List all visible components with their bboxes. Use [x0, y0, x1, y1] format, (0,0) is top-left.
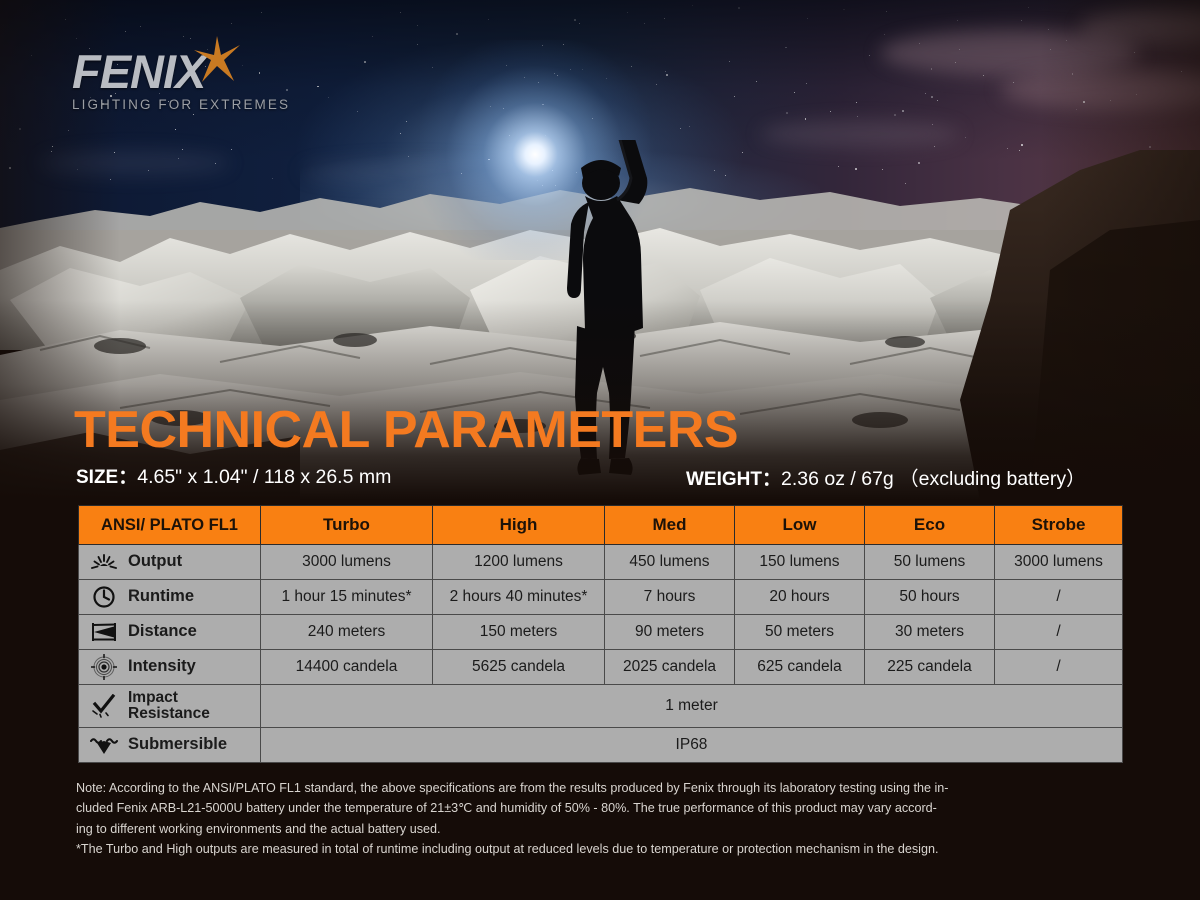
footnote: Note: According to the ANSI/PLATO FL1 st… — [76, 778, 1132, 860]
cell-runtime-eco: 50 hours — [865, 580, 995, 615]
row-label-submersible: Submersible — [79, 728, 261, 763]
header-cell-2: High — [433, 506, 605, 545]
row-label-output: Output — [79, 545, 261, 580]
header-cell-6: Strobe — [995, 506, 1123, 545]
footnote-line-2: cluded Fenix ARB-L21-5000U battery under… — [76, 798, 1132, 818]
cell-output-eco: 50 lumens — [865, 545, 995, 580]
footnote-line-4: *The Turbo and High outputs are measured… — [76, 839, 1132, 859]
cell-runtime-turbo: 1 hour 15 minutes* — [261, 580, 433, 615]
header-cell-4: Low — [735, 506, 865, 545]
cell-intensity-turbo: 14400 candela — [261, 650, 433, 685]
cell-runtime-strobe: / — [995, 580, 1123, 615]
cell-intensity-high: 5625 candela — [433, 650, 605, 685]
cell-runtime-low: 20 hours — [735, 580, 865, 615]
intensity-target-icon — [89, 654, 119, 680]
header-cell-5: Eco — [865, 506, 995, 545]
header-cell-3: Med — [605, 506, 735, 545]
header-cell-1: Turbo — [261, 506, 433, 545]
cell-intensity-med: 2025 candela — [605, 650, 735, 685]
spec-summary: SIZE：4.65" x 1.04" / 118 x 26.5 mm WEIGH… — [76, 462, 1136, 494]
size-spec: SIZE：4.65" x 1.04" / 118 x 26.5 mm — [76, 462, 391, 489]
cell-distance-med: 90 meters — [605, 615, 735, 650]
table-row: Intensity 14400 candela 5625 candela 202… — [79, 650, 1123, 685]
cell-output-low: 150 lumens — [735, 545, 865, 580]
table-row: Runtime 1 hour 15 minutes* 2 hours 40 mi… — [79, 580, 1123, 615]
specs-table: ANSI/ PLATO FL1 Turbo High Med Low Eco S… — [78, 505, 1123, 763]
page-title: TECHNICAL PARAMETERS — [74, 404, 738, 456]
header-cell-0: ANSI/ PLATO FL1 — [79, 506, 261, 545]
weight-spec: WEIGHT：2.36 oz / 67g （excluding battery） — [686, 462, 1086, 491]
footnote-line-1: Note: According to the ANSI/PLATO FL1 st… — [76, 778, 1132, 798]
row-label-text: Submersible — [128, 736, 227, 753]
fenix-logo: FENIX LIGHTING FOR EXTREMES — [72, 48, 332, 120]
cell-runtime-high: 2 hours 40 minutes* — [433, 580, 605, 615]
cell-intensity-eco: 225 candela — [865, 650, 995, 685]
size-value: 4.65" x 1.04" / 118 x 26.5 mm — [137, 466, 391, 488]
table-row: Output 3000 lumens 1200 lumens 450 lumen… — [79, 545, 1123, 580]
cell-runtime-med: 7 hours — [605, 580, 735, 615]
footnote-line-3: ing to different working environments an… — [76, 819, 1132, 839]
row-label-text: ImpactResistance — [128, 690, 210, 723]
cell-impact-resistance-value: 1 meter — [261, 685, 1123, 728]
row-label-impact-resistance: ImpactResistance — [79, 685, 261, 728]
row-label-intensity: Intensity — [79, 650, 261, 685]
row-label-text: Output — [128, 553, 182, 570]
cell-distance-low: 50 meters — [735, 615, 865, 650]
cell-output-turbo: 3000 lumens — [261, 545, 433, 580]
logo-tagline: LIGHTING FOR EXTREMES — [72, 97, 332, 112]
table-row: Submersible IP68 — [79, 728, 1123, 763]
cell-output-high: 1200 lumens — [433, 545, 605, 580]
cell-intensity-strobe: / — [995, 650, 1123, 685]
page-root: FENIX LIGHTING FOR EXTREMES TECHNICAL PA… — [0, 0, 1200, 900]
table-row: ImpactResistance 1 meter — [79, 685, 1123, 728]
row-label-text: Intensity — [128, 658, 196, 675]
weight-value: 2.36 oz / 67g （excluding battery） — [781, 468, 1086, 490]
row-label-text: Distance — [128, 623, 197, 640]
cell-distance-turbo: 240 meters — [261, 615, 433, 650]
clock-icon — [89, 585, 119, 609]
impact-label-line1: Impact — [128, 689, 178, 706]
impact-resistance-icon — [89, 694, 119, 718]
row-label-distance: Distance — [79, 615, 261, 650]
cell-intensity-low: 625 candela — [735, 650, 865, 685]
light-burst-icon — [89, 552, 119, 572]
table-row: Distance 240 meters 150 meters 90 meters… — [79, 615, 1123, 650]
star-icon — [194, 36, 240, 84]
beam-distance-icon — [89, 621, 119, 643]
cell-distance-strobe: / — [995, 615, 1123, 650]
row-label-text: Runtime — [128, 588, 194, 605]
weight-label: WEIGHT： — [686, 469, 781, 490]
cell-output-med: 450 lumens — [605, 545, 735, 580]
impact-label-line2: Resistance — [128, 705, 210, 722]
size-label: SIZE： — [76, 467, 137, 488]
cell-distance-high: 150 meters — [433, 615, 605, 650]
table-header-row: ANSI/ PLATO FL1 Turbo High Med Low Eco S… — [79, 506, 1123, 545]
cell-distance-eco: 30 meters — [865, 615, 995, 650]
cell-output-strobe: 3000 lumens — [995, 545, 1123, 580]
submersible-icon — [89, 735, 119, 755]
cell-submersible-value: IP68 — [261, 728, 1123, 763]
row-label-runtime: Runtime — [79, 580, 261, 615]
